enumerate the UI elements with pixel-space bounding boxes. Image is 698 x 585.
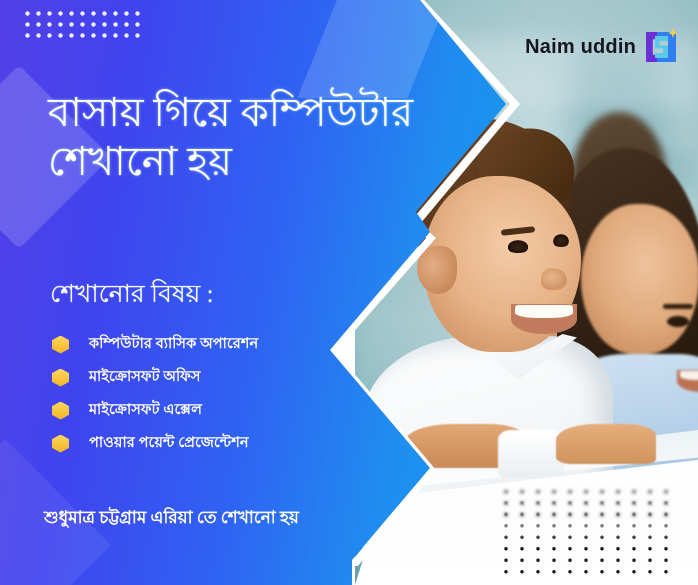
topic-label: মাইক্রোসফট অফিস <box>89 366 201 390</box>
student-sleeve <box>498 430 564 478</box>
page-title: বাসায় গিয়ে কম্পিউটার শেখানো হয় <box>48 88 418 186</box>
boy-eye <box>551 234 571 247</box>
girl-eye <box>667 316 689 327</box>
poster-text-content: বাসায় গিয়ে কম্পিউটার শেখানো হয় শেখানো… <box>0 0 420 585</box>
list-item: মাইক্রোসফট এক্সেল <box>52 394 402 427</box>
dark-dot-grid <box>498 497 668 577</box>
list-item: মাইক্রোসফট অফিস <box>52 361 402 394</box>
topic-label: মাইক্রোসফট এক্সেল <box>89 399 202 423</box>
topics-heading: শেখানোর বিষয় : <box>50 274 214 317</box>
girl-teeth <box>680 371 698 380</box>
brand-logo[interactable]: Naim uddin <box>525 30 676 64</box>
hexagon-bullet-icon <box>52 336 69 354</box>
service-area-note: শুধুমাত্র চট্টগ্রাম এরিয়া তে শেখানো হয় <box>44 505 344 531</box>
brand-s-monogram-icon <box>646 30 676 64</box>
hexagon-bullet-icon <box>52 369 69 387</box>
boy-smile <box>511 304 577 334</box>
hexagon-bullet-icon <box>52 435 69 453</box>
boy-eye <box>505 240 531 253</box>
list-item: কম্পিউটার ব্যাসিক অপারেশন <box>52 328 402 361</box>
boy-teeth <box>515 305 573 318</box>
topic-label: কম্পিউটার ব্যাসিক অপারেশন <box>89 333 258 357</box>
topics-list: কম্পিউটার ব্যাসিক অপারেশন মাইক্রোসফট অফি… <box>52 328 402 460</box>
list-item: পাওয়ার পয়েন্ট প্রেজেন্টেশন <box>52 427 402 460</box>
brand-name: Naim uddin <box>525 36 636 59</box>
student-arm <box>556 424 656 464</box>
girl-eyebrow <box>663 304 693 309</box>
poster-canvas: Naim uddin বাসায় গিয়ে কম্পিউটার শেখানো… <box>0 0 698 585</box>
hexagon-bullet-icon <box>52 402 69 420</box>
logo-s-shape <box>655 36 668 58</box>
boy-ear <box>417 246 457 294</box>
topic-label: পাওয়ার পয়েন্ট প্রেজেন্টেশন <box>89 432 249 456</box>
girl-face <box>581 204 698 354</box>
boy-nose <box>541 268 567 290</box>
